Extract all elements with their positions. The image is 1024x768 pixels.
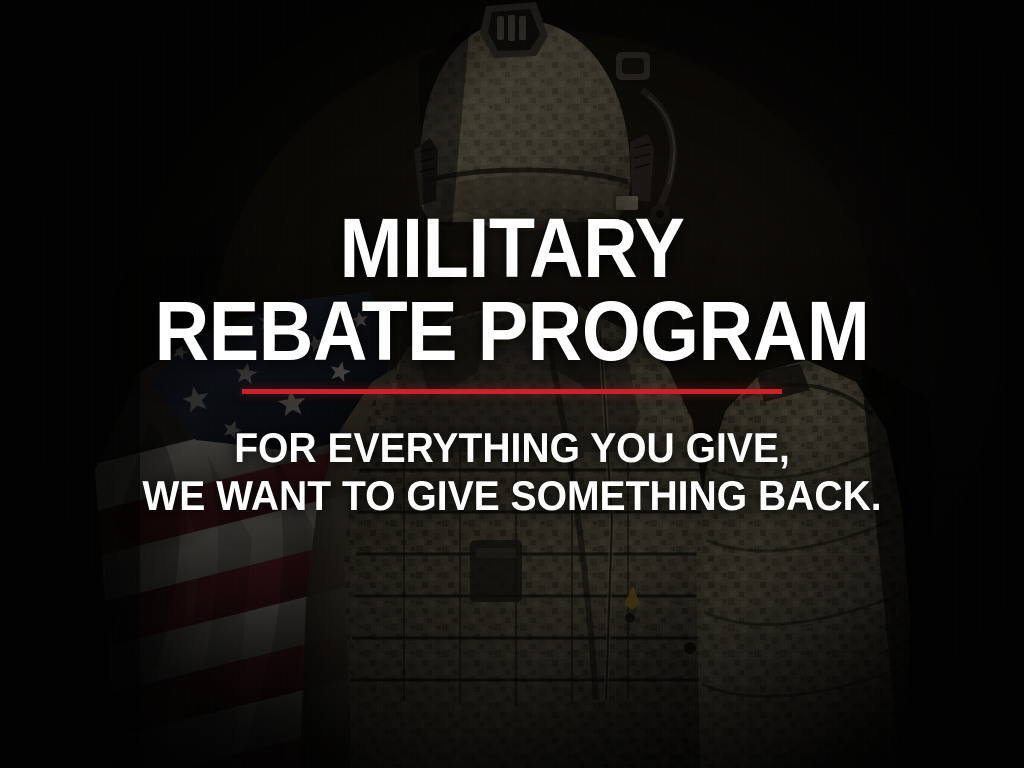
tagline: FOR EVERYTHING YOU GIVE, WE WANT TO GIVE… — [0, 424, 1024, 520]
poster-content: MILITARY REBATE PROGRAM FOR EVERYTHING Y… — [0, 0, 1024, 768]
subheadline-line-2: WE WANT TO GIVE SOMETHING BACK. — [36, 472, 988, 520]
headline-block: MILITARY REBATE PROGRAM — [0, 208, 1024, 373]
divider-wrap — [0, 389, 1024, 394]
subheadline-block: FOR EVERYTHING YOU GIVE, WE WANT TO GIVE… — [0, 424, 1024, 520]
headline-line-2: REBATE PROGRAM — [51, 291, 973, 372]
page-title: MILITARY REBATE PROGRAM — [0, 208, 1024, 373]
headline-line-1: MILITARY — [51, 208, 973, 289]
subheadline-line-1: FOR EVERYTHING YOU GIVE, — [36, 424, 988, 472]
military-rebate-poster: MILITARY REBATE PROGRAM FOR EVERYTHING Y… — [0, 0, 1024, 768]
red-accent-divider — [242, 389, 782, 394]
